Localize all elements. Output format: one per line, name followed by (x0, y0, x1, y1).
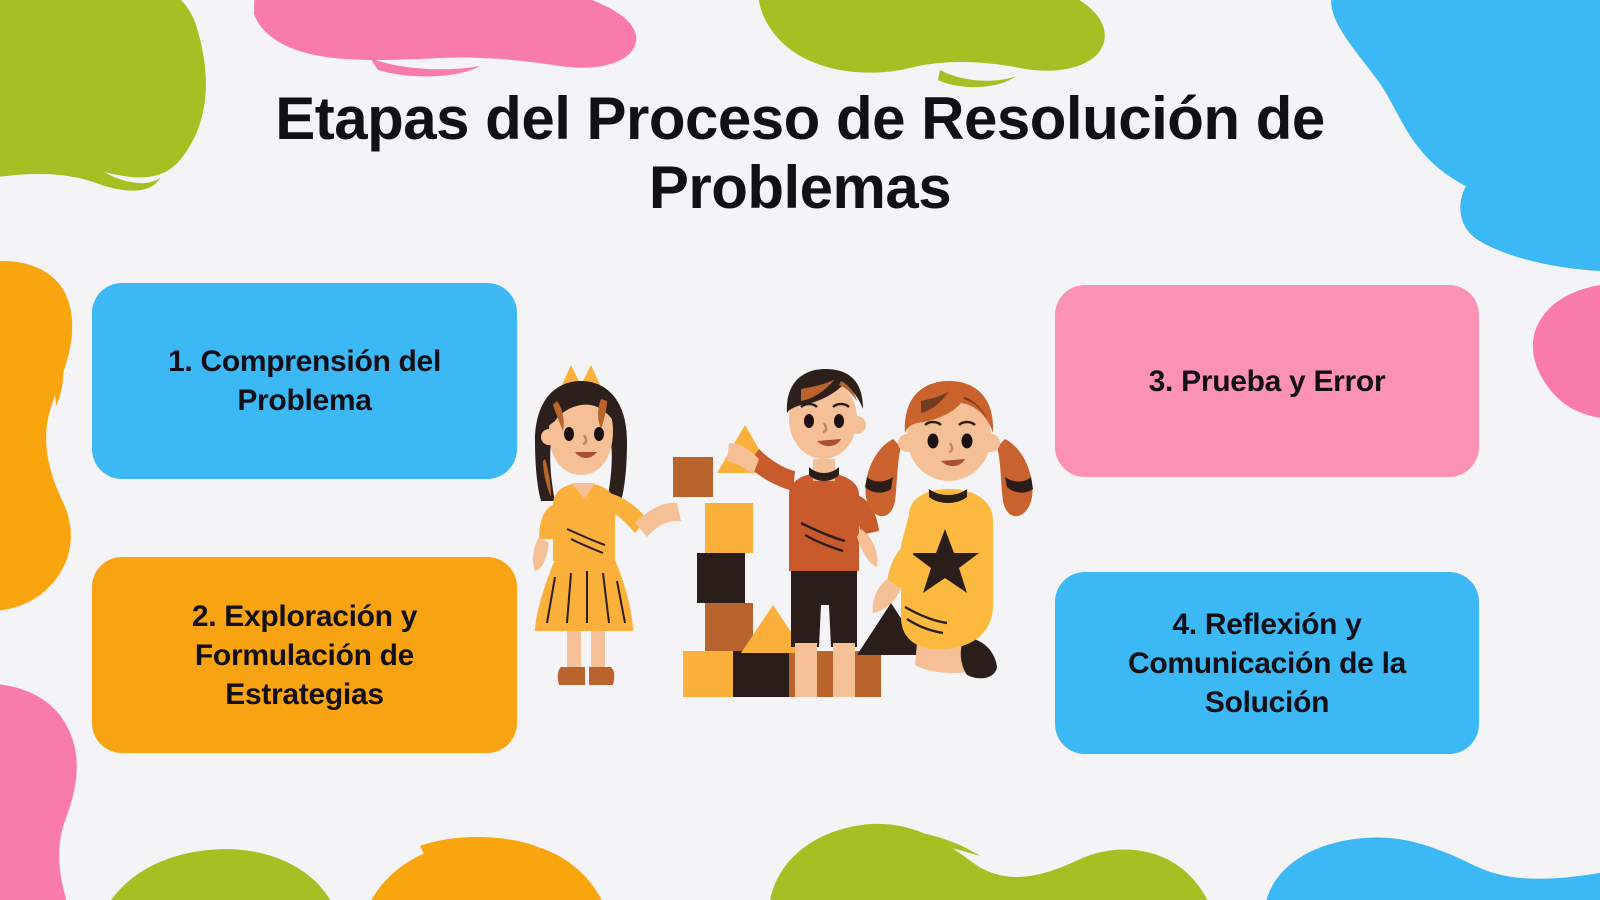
brush-stroke-bottom-left-green (96, 849, 346, 900)
ear-left (541, 429, 557, 445)
leg-left (795, 643, 817, 697)
hand-right (857, 529, 877, 567)
illustration-children-building-blocks (505, 355, 1095, 700)
slide-canvas: Etapas del Proceso de Resolución de Prob… (0, 0, 1600, 900)
hand-left (533, 537, 549, 571)
shoe-left (558, 667, 585, 685)
ear-left (898, 434, 916, 452)
block-square-dark-1 (697, 553, 745, 603)
eye-right (594, 427, 604, 441)
brush-stroke-top-center-green (758, 0, 1105, 73)
ear-right (848, 416, 866, 434)
braid-left (865, 439, 901, 516)
eye-right (962, 434, 973, 449)
eye-left (564, 427, 574, 441)
eye-right (834, 414, 844, 428)
brush-stroke-bottom-center-orange-wisp (420, 837, 536, 854)
brush-stroke-bottom-right-blue-wisp (1340, 841, 1470, 864)
block-square-yellow-1 (705, 503, 753, 553)
brush-stroke-bottom-center-green (769, 824, 1216, 900)
figure-girl-dark-hair (533, 365, 681, 685)
eye-left (804, 414, 814, 428)
step-box-1-label: 1. Comprensión del Problema (118, 342, 491, 420)
step-box-4[interactable]: 4. Reflexión y Comunicación de la Soluci… (1055, 572, 1479, 754)
brush-stroke-right-pink (1533, 283, 1600, 420)
step-box-2-label: 2. Exploración y Formulación de Estrateg… (118, 597, 491, 714)
hand-right (635, 503, 681, 537)
brush-stroke-bottom-center-green-wisp (860, 829, 980, 856)
step-box-3[interactable]: 3. Prueba y Error (1055, 285, 1479, 477)
braid-right (997, 439, 1033, 516)
step-box-2[interactable]: 2. Exploración y Formulación de Estrateg… (92, 557, 517, 753)
shorts (791, 563, 857, 647)
brush-stroke-bottom-right-blue (1264, 837, 1600, 900)
brush-stroke-right-upper-blue (1460, 180, 1600, 272)
page-title: Etapas del Proceso de Resolución de Prob… (170, 84, 1430, 222)
step-box-4-label: 4. Reflexión y Comunicación de la Soluci… (1081, 605, 1453, 722)
arm-left (539, 505, 553, 539)
leg-right (833, 643, 855, 697)
brush-stroke-top-center-pink-wisp (370, 58, 480, 76)
block-square-brown-1 (705, 603, 753, 651)
brush-stroke-bottom-left-pink-wisp (48, 760, 64, 842)
brush-stroke-left-orange-wisp (50, 330, 64, 406)
shirt (789, 473, 859, 571)
brush-stroke-left-orange (0, 261, 72, 611)
block-square-dark-2 (733, 651, 789, 697)
ear-right (982, 434, 1000, 452)
brush-stroke-top-center-pink (254, 0, 636, 68)
step-box-1[interactable]: 1. Comprensión del Problema (92, 283, 517, 479)
step-box-3-label: 3. Prueba y Error (1149, 362, 1386, 401)
block-square-yellow-2 (683, 651, 733, 697)
eye-left (928, 434, 939, 449)
block-held-brown (673, 457, 713, 497)
brush-stroke-bottom-left-pink (0, 684, 77, 900)
brush-stroke-bottom-center-orange (360, 840, 612, 900)
shoe-right (589, 667, 614, 685)
